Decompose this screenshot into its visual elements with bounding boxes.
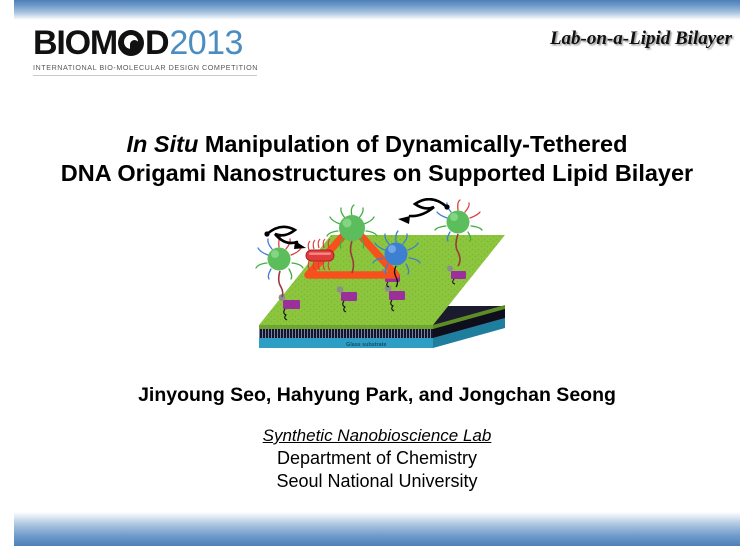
biomod-logo-tagline: INTERNATIONAL BIO-MOLECULAR DESIGN COMPE… [33, 63, 263, 72]
page-title: In Situ Manipulation of Dynamically-Teth… [0, 130, 754, 188]
logo-divider [33, 75, 257, 76]
biomod-logo: BIOMD2013 INTERNATIONAL BIO-MOLECULAR DE… [33, 26, 263, 76]
bottom-decorative-band [14, 512, 740, 546]
biomod-swirl-o-icon [118, 30, 144, 56]
title-line-1: In Situ Manipulation of Dynamically-Teth… [0, 130, 754, 159]
title-line-1-rest: Manipulation of Dynamically-Tethered [198, 131, 627, 157]
title-line-2: DNA Origami Nanostructures on Supported … [0, 159, 754, 188]
title-in-situ: In Situ [127, 131, 199, 157]
affiliation-block: Synthetic Nanobioscience Lab Department … [0, 424, 754, 493]
figure-schematic: Glass substrate [237, 198, 527, 370]
schematic-illustration: Glass substrate [237, 198, 527, 370]
team-name: Lab-on-a-Lipid Bilayer [550, 28, 732, 50]
author-list: Jinyoung Seo, Hahyung Park, and Jongchan… [0, 384, 754, 407]
binding-arrow-left [264, 227, 306, 249]
affiliation-lab: Synthetic Nanobioscience Lab [0, 424, 754, 447]
biomod-logo-text-part2: D [145, 26, 168, 60]
presentation-slide: BIOMD2013 INTERNATIONAL BIO-MOLECULAR DE… [0, 0, 754, 546]
top-decorative-band [14, 0, 740, 20]
binding-arrow-right [398, 199, 450, 224]
affiliation-department: Department of Chemistry [0, 447, 754, 470]
biomod-logo-year: 2013 [169, 26, 243, 60]
biomod-logo-wordmark: BIOMD2013 [33, 26, 263, 60]
affiliation-university: Seoul National University [0, 470, 754, 493]
glass-substrate-label: Glass substrate [346, 342, 386, 348]
biomod-logo-text-part1: BIOM [33, 26, 117, 60]
